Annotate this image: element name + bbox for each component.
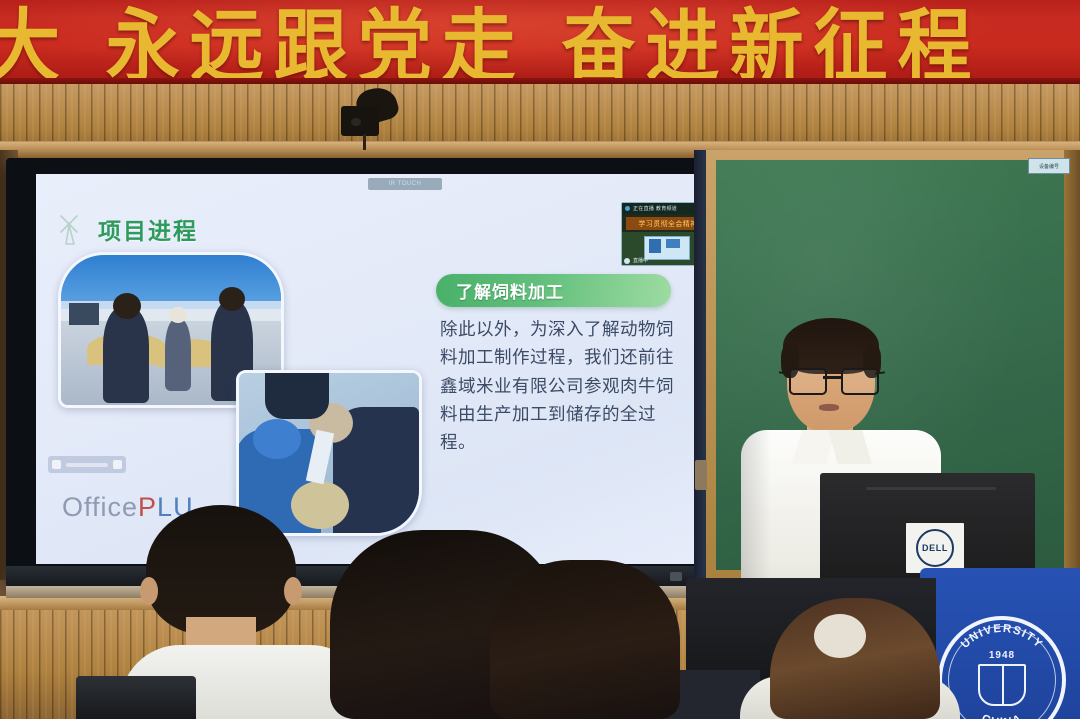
classroom-presentation-scene: 大 永远跟党走 奋进新征程 IR TOUCH 项目进程 — [0, 0, 1080, 719]
photo1-machine — [69, 303, 99, 325]
dell-brand-card: DELL — [906, 523, 964, 573]
photo1-person-left — [103, 307, 149, 403]
pip-glyph-2 — [666, 239, 680, 248]
audience1-hair — [146, 505, 296, 635]
toolbar-handle[interactable] — [66, 463, 108, 467]
photo1-person-mid — [165, 319, 191, 391]
screen-sensor-bar: IR TOUCH — [368, 178, 442, 190]
slide-floating-toolbar[interactable] — [48, 456, 126, 473]
emblem-top-text: UNIVERSITY — [959, 623, 1045, 651]
camera-stem — [363, 134, 366, 150]
slide-title-row: 项目进程 — [58, 212, 198, 246]
section-heading-text: 了解饲料加工 — [456, 278, 564, 303]
equipment-sticker: 设备编号 — [1028, 158, 1070, 174]
glasses-lens-right — [841, 368, 879, 395]
audience4-hair — [770, 598, 940, 719]
chalkboard-hinge — [695, 460, 707, 490]
photo1-head-mid — [169, 307, 187, 323]
wood-slat-wall-top — [0, 84, 1080, 158]
pip-glyph-1 — [649, 239, 661, 253]
emblem-bottom-text: CHINA — [980, 713, 1024, 719]
presenter-mouth — [819, 404, 839, 411]
monitor-vent — [866, 487, 996, 490]
banner-text: 大 永远跟党走 奋进新征程 — [0, 0, 1080, 84]
toolbar-pen-icon[interactable] — [52, 460, 61, 469]
glasses-temple-right — [875, 371, 885, 374]
presenter-glasses-icon — [787, 368, 877, 392]
photo2-blue-cap — [253, 419, 301, 459]
audience-laptop[interactable] — [76, 676, 196, 719]
audience4-hair-tie — [814, 614, 866, 658]
slide-body-text: 除此以外，为深入了解动物饲料加工制作过程，我们还前往鑫域米业有限公司参观肉牛饲料… — [440, 316, 688, 458]
slide-title: 项目进程 — [98, 212, 198, 246]
windmill-icon — [58, 212, 86, 246]
audience3-hair — [490, 560, 680, 719]
audience-member-4 — [770, 598, 940, 719]
pip-title: 正在直播 教育频道 — [633, 205, 677, 212]
photo1-head-left — [113, 293, 141, 319]
dell-logo-icon: DELL — [916, 529, 954, 567]
pip-footer: 直播中 — [624, 257, 648, 264]
red-slogan-banner: 大 永远跟党走 奋进新征程 — [0, 0, 1080, 84]
chalkboard-right-edge — [1064, 150, 1080, 580]
camera-lens — [351, 118, 361, 126]
photo2-person-top — [265, 370, 329, 419]
toolbar-close-icon[interactable] — [113, 460, 122, 469]
audience1-ear-left — [140, 577, 158, 605]
audience-member-3 — [490, 560, 680, 719]
pip-live-dot-icon — [625, 206, 630, 211]
glasses-bridge — [823, 376, 841, 379]
emblem-curved-text: UNIVERSITY CHINA — [942, 620, 1062, 719]
pip-footer-icon — [624, 258, 630, 264]
photo1-head-right — [219, 287, 245, 311]
section-heading-pill: 了解饲料加工 — [436, 274, 671, 307]
glasses-lens-left — [789, 368, 827, 395]
pip-footer-text: 直播中 — [633, 257, 648, 264]
audience1-ear-right — [284, 577, 302, 605]
ceiling-camera-icon — [341, 88, 395, 136]
